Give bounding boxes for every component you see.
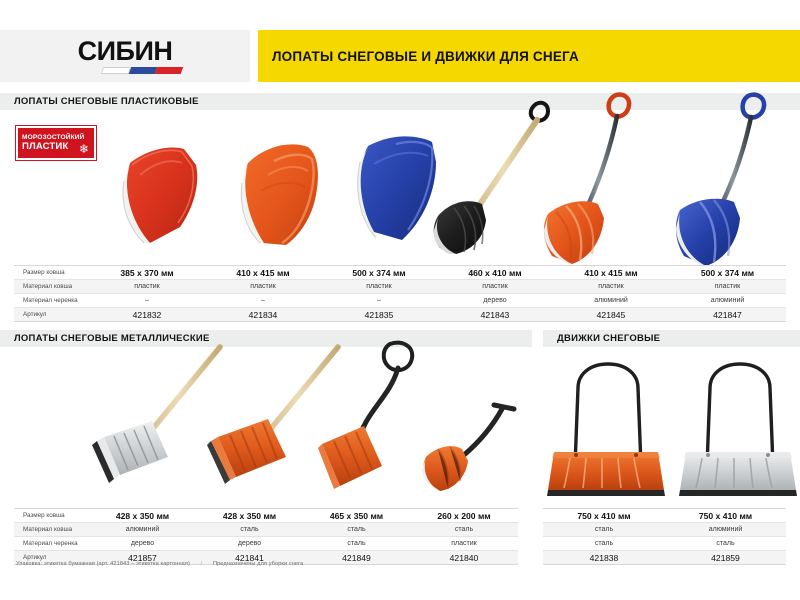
table-row: 750 x 410 мм 750 x 410 мм xyxy=(543,509,786,523)
page-title: ЛОПАТЫ СНЕГОВЫЕ И ДВИЖКИ ДЛЯ СНЕГА xyxy=(272,49,579,64)
specs-table-metal: Размер ковша 428 x 350 мм 428 x 350 мм 4… xyxy=(14,508,518,565)
table-row: Материал черенка – – – дерево алюминий а… xyxy=(14,294,786,308)
cell-handle-2: дерево xyxy=(196,537,303,551)
frost-resistant-badge: МОРОЗОСТОЙКИЙ ПЛАСТИК ❄ xyxy=(16,126,96,160)
table-row: Материал ковша алюминий сталь сталь стал… xyxy=(14,523,518,537)
specs-table-plastic: Размер ковша 385 x 370 мм 410 x 415 мм 5… xyxy=(14,265,786,322)
cell-scoop-2: сталь xyxy=(196,523,303,537)
page-header: СИБИН ЛОПАТЫ СНЕГОВЫЕ И ДВИЖКИ ДЛЯ СНЕГА xyxy=(0,30,800,82)
cell-scoop-5: пластик xyxy=(553,280,669,294)
catalog-page: СИБИН ЛОПАТЫ СНЕГОВЫЕ И ДВИЖКИ ДЛЯ СНЕГА… xyxy=(0,0,800,600)
product-image-421843 xyxy=(424,98,554,258)
cell-size-3: 465 x 350 мм xyxy=(303,509,410,523)
cell-scoop-3: пластик xyxy=(321,280,437,294)
snowflake-icon: ❄ xyxy=(79,143,89,155)
cell-article-5: 421845 xyxy=(553,308,669,322)
footer-note: Упаковка: этикетка бумажная (арт. 421843… xyxy=(16,561,303,567)
footer-purpose: Предназначены для уборки снега xyxy=(213,561,303,567)
cell-handle-2: – xyxy=(205,294,321,308)
footer-separator: / xyxy=(192,561,212,567)
cell-scoop-6: пластик xyxy=(669,280,786,294)
cell-scoop-2: пластик xyxy=(205,280,321,294)
cell-size-4: 460 x 410 мм xyxy=(437,266,553,280)
cell-size-5: 410 x 415 мм xyxy=(553,266,669,280)
cell-scoop-4: пластик xyxy=(437,280,553,294)
cell-handle-1: сталь xyxy=(543,537,665,551)
cell-size-1: 385 x 370 мм xyxy=(89,266,205,280)
specs-table-pushers: 750 x 410 мм 750 x 410 мм сталь алюминий… xyxy=(543,508,786,565)
cell-scoop-1: пластик xyxy=(89,280,205,294)
cell-article-3: 421849 xyxy=(303,551,410,565)
table-row: Материал ковша пластик пластик пластик п… xyxy=(14,280,786,294)
section-title-plastic: ЛОПАТЫ СНЕГОВЫЕ ПЛАСТИКОВЫЕ xyxy=(14,96,199,107)
cell-handle-3: сталь xyxy=(303,537,410,551)
row-label-size: Размер ковша xyxy=(14,266,89,280)
row-label-scoop-material: Материал ковша xyxy=(14,280,89,294)
table-row: 421838 421859 xyxy=(543,551,786,565)
table-row: Материал черенка дерево дерево сталь пла… xyxy=(14,537,518,551)
cell-article-2: 421834 xyxy=(205,308,321,322)
product-image-421845 xyxy=(540,92,650,267)
table-row: Артикул 421832 421834 421835 421843 4218… xyxy=(14,308,786,322)
cell-scoop-2: алюминий xyxy=(665,523,786,537)
row-label-size: Размер ковша xyxy=(14,509,89,523)
cell-scoop-4: сталь xyxy=(410,523,518,537)
cell-size-2: 750 x 410 мм xyxy=(665,509,786,523)
cell-size-3: 500 x 374 мм xyxy=(321,266,437,280)
table-row: Размер ковша 385 x 370 мм 410 x 415 мм 5… xyxy=(14,266,786,280)
cell-article-4: 421840 xyxy=(410,551,518,565)
table-row: сталь алюминий xyxy=(543,523,786,537)
cell-article-1: 421838 xyxy=(543,551,665,565)
row-label-scoop-material: Материал ковша xyxy=(14,523,89,537)
footer-packaging: Упаковка: этикетка бумажная (арт. 421843… xyxy=(16,561,190,567)
cell-article-3: 421835 xyxy=(321,308,437,322)
table-row: Размер ковша 428 x 350 мм 428 x 350 мм 4… xyxy=(14,509,518,523)
product-image-421847 xyxy=(672,92,787,267)
cell-scoop-1: алюминий xyxy=(89,523,196,537)
cell-handle-5: алюминий xyxy=(553,294,669,308)
section-header-pushers: ДВИЖКИ СНЕГОВЫЕ xyxy=(543,330,800,347)
cell-handle-1: – xyxy=(89,294,205,308)
cell-handle-2: сталь xyxy=(665,537,786,551)
row-label-handle-material: Материал черенка xyxy=(14,294,89,308)
product-image-421840 xyxy=(420,395,530,505)
brand-name: СИБИН xyxy=(78,38,173,65)
cell-article-1: 421832 xyxy=(89,308,205,322)
table-row: сталь сталь xyxy=(543,537,786,551)
row-label-handle-material: Материал черенка xyxy=(14,537,89,551)
header-title-bar: ЛОПАТЫ СНЕГОВЫЕ И ДВИЖКИ ДЛЯ СНЕГА xyxy=(258,30,800,82)
cell-size-6: 500 x 374 мм xyxy=(669,266,786,280)
product-image-421859 xyxy=(678,352,800,502)
cell-size-2: 428 x 350 мм xyxy=(196,509,303,523)
cell-article-2: 421859 xyxy=(665,551,786,565)
cell-handle-4: пластик xyxy=(410,537,518,551)
cell-handle-1: дерево xyxy=(89,537,196,551)
cell-size-1: 428 x 350 мм xyxy=(89,509,196,523)
product-image-421832 xyxy=(108,135,218,250)
row-label-article: Артикул xyxy=(14,308,89,322)
cell-scoop-3: сталь xyxy=(303,523,410,537)
cell-handle-6: алюминий xyxy=(669,294,786,308)
cell-size-4: 260 x 200 мм xyxy=(410,509,518,523)
cell-article-4: 421843 xyxy=(437,308,553,322)
brand-logo: СИБИН xyxy=(0,30,250,82)
cell-handle-3: – xyxy=(321,294,437,308)
section-title-metal: ЛОПАТЫ СНЕГОВЫЕ МЕТАЛЛИЧЕСКИЕ xyxy=(14,333,210,344)
cell-size-1: 750 x 410 мм xyxy=(543,509,665,523)
cell-handle-4: дерево xyxy=(437,294,553,308)
cell-scoop-1: сталь xyxy=(543,523,665,537)
section-title-pushers: ДВИЖКИ СНЕГОВЫЕ xyxy=(557,333,660,344)
cell-size-2: 410 x 415 мм xyxy=(205,266,321,280)
brand-stripes-icon xyxy=(101,67,184,74)
product-image-421834 xyxy=(228,133,338,253)
product-image-421838 xyxy=(546,352,671,502)
cell-article-6: 421847 xyxy=(669,308,786,322)
